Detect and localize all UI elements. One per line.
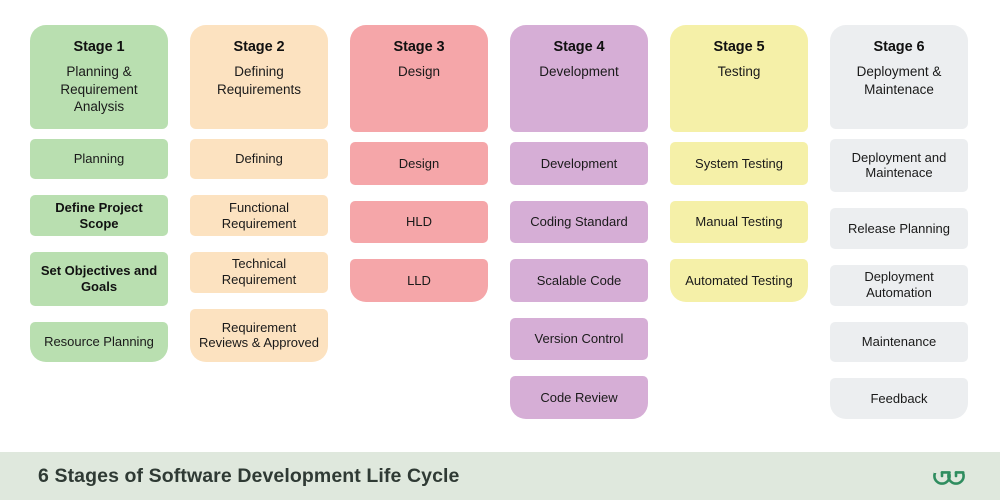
stage-title-label: Design [398, 63, 440, 80]
stage-title-label: Defining Requirements [198, 63, 320, 98]
stage-item-card[interactable]: Resource Planning [30, 322, 168, 363]
stage-title-label: Deployment & Maintenace [838, 63, 960, 98]
stage-item-card[interactable]: Define Project Scope [30, 195, 168, 236]
stage-column-4: Stage 4DevelopmentDevelopmentCoding Stan… [510, 25, 648, 435]
stage-header-card-5[interactable]: Stage 5Testing [670, 25, 808, 132]
stage-title-label: Development [539, 63, 619, 80]
stage-header-card-4[interactable]: Stage 4Development [510, 25, 648, 132]
footer-title: 6 Stages of Software Development Life Cy… [38, 465, 460, 488]
stage-item-card[interactable]: Planning [30, 139, 168, 180]
stage-item-spacer [350, 376, 488, 419]
stage-item-card[interactable]: Version Control [510, 318, 648, 361]
stage-item-card[interactable]: Scalable Code [510, 259, 648, 302]
stage-item-card[interactable]: LLD [350, 259, 488, 302]
stage-item-spacer [670, 318, 808, 361]
stage-item-spacer [670, 376, 808, 419]
stage-column-2: Stage 2Defining RequirementsDefiningFunc… [190, 25, 328, 435]
stage-item-card[interactable]: Code Review [510, 376, 648, 419]
stage-column-3: Stage 3DesignDesignHLDLLD [350, 25, 488, 435]
footer-bar: 6 Stages of Software Development Life Cy… [0, 452, 1000, 500]
stage-number-label: Stage 2 [234, 39, 285, 56]
stage-item-card[interactable]: Coding Standard [510, 201, 648, 244]
stage-title-label: Testing [718, 63, 761, 80]
stage-item-card[interactable]: Defining [190, 139, 328, 180]
stage-column-5: Stage 5TestingSystem TestingManual Testi… [670, 25, 808, 435]
stage-item-card[interactable]: Deployment and Maintenace [830, 139, 968, 193]
stage-header-card-3[interactable]: Stage 3Design [350, 25, 488, 132]
stage-column-6: Stage 6Deployment & MaintenaceDeployment… [830, 25, 968, 435]
stage-item-card[interactable]: Set Objectives and Goals [30, 252, 168, 306]
stage-number-label: Stage 3 [394, 39, 445, 56]
stage-item-card[interactable]: Requirement Reviews & Approved [190, 309, 328, 363]
stage-item-card[interactable]: Release Planning [830, 208, 968, 249]
stage-item-spacer [190, 378, 328, 419]
stage-header-card-1[interactable]: Stage 1Planning & Requirement Analysis [30, 25, 168, 129]
stage-column-1: Stage 1Planning & Requirement AnalysisPl… [30, 25, 168, 435]
stage-number-label: Stage 6 [874, 39, 925, 56]
stage-item-card[interactable]: System Testing [670, 142, 808, 185]
stage-number-label: Stage 5 [714, 39, 765, 56]
stage-item-card[interactable]: Technical Requirement [190, 252, 328, 293]
stage-item-card[interactable]: Feedback [830, 378, 968, 419]
stage-item-spacer [350, 318, 488, 361]
stage-item-card[interactable]: HLD [350, 201, 488, 244]
stage-item-card[interactable]: Design [350, 142, 488, 185]
geeksforgeeks-logo [926, 461, 972, 491]
sdlc-infographic: Stage 1Planning & Requirement AnalysisPl… [0, 0, 1000, 500]
stage-item-card[interactable]: Functional Requirement [190, 195, 328, 236]
stage-item-card[interactable]: Maintenance [830, 322, 968, 363]
gfg-logo-icon [926, 461, 972, 491]
stage-item-card[interactable]: Deployment Automation [830, 265, 968, 306]
stage-number-label: Stage 4 [554, 39, 605, 56]
stage-title-label: Planning & Requirement Analysis [38, 63, 160, 115]
stage-item-card[interactable]: Manual Testing [670, 201, 808, 244]
stage-header-card-2[interactable]: Stage 2Defining Requirements [190, 25, 328, 129]
stage-columns: Stage 1Planning & Requirement AnalysisPl… [30, 25, 970, 435]
stage-number-label: Stage 1 [74, 39, 125, 56]
stage-item-card[interactable]: Development [510, 142, 648, 185]
stage-item-card[interactable]: Automated Testing [670, 259, 808, 302]
stage-header-card-6[interactable]: Stage 6Deployment & Maintenace [830, 25, 968, 129]
stage-item-spacer [30, 378, 168, 419]
